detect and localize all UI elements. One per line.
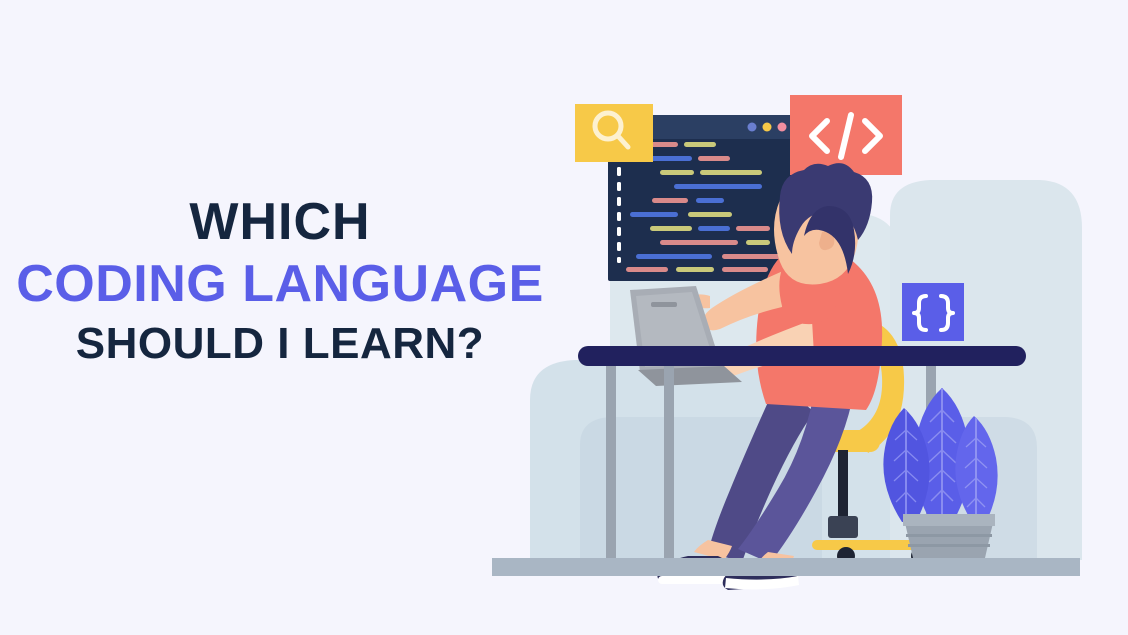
code-tag-badge (790, 95, 902, 175)
floor-strip (492, 558, 1080, 576)
search-badge (575, 104, 653, 162)
illustration-developer-at-desk (460, 0, 1128, 635)
banner-root: WHICH CODING LANGUAGE SHOULD I LEARN? (0, 0, 1128, 635)
braces-badge (902, 283, 964, 341)
plant-pot (903, 514, 995, 558)
